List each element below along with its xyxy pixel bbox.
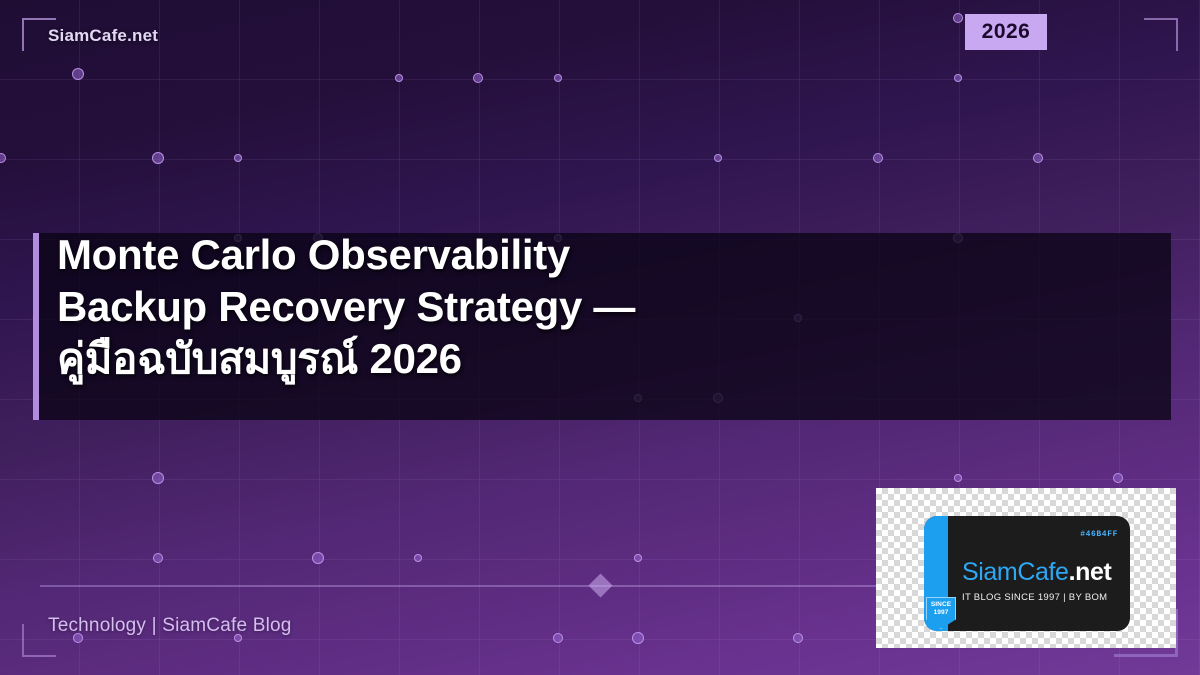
logo-wordmark-primary: SiamCafe xyxy=(962,558,1069,586)
decorative-dot xyxy=(0,153,6,163)
decorative-dot xyxy=(793,633,803,643)
year-badge-label: 2026 xyxy=(982,20,1031,44)
social-card-canvas: SiamCafe.net 2026 Monte Carlo Observabil… xyxy=(0,0,1200,675)
title-band: Monte Carlo Observability Backup Recover… xyxy=(33,233,1171,420)
decorative-dot xyxy=(473,73,483,83)
decorative-dot xyxy=(153,553,163,563)
decorative-dot xyxy=(714,154,722,162)
decorative-dot xyxy=(632,632,644,644)
decorative-dot xyxy=(234,154,242,162)
decorative-dot xyxy=(954,474,962,482)
decorative-dot xyxy=(414,554,422,562)
decorative-dot xyxy=(953,13,963,23)
decorative-dot xyxy=(1033,153,1043,163)
page-title: Monte Carlo Observability Backup Recover… xyxy=(57,229,1157,385)
footer-category: Technology | SiamCafe Blog xyxy=(48,615,292,637)
year-badge: 2026 xyxy=(965,14,1047,50)
logo-plate: SINCE 1997 #46B4FF SiamCafe.net IT BLOG … xyxy=(924,516,1130,631)
decorative-dot xyxy=(72,68,84,80)
logo-wordmark-suffix: .net xyxy=(1069,558,1112,586)
title-accent-bar xyxy=(33,233,39,420)
shield-line-1: SINCE xyxy=(931,601,951,609)
decorative-dot xyxy=(873,153,883,163)
brand-wordmark: SiamCafe.net xyxy=(48,26,158,46)
decorative-dot xyxy=(1113,473,1123,483)
decorative-dot xyxy=(395,74,403,82)
logo-hex-label: #46B4FF xyxy=(1080,530,1118,539)
logo-tagline: IT BLOG SINCE 1997 | BY BOM xyxy=(962,592,1107,603)
decorative-dot xyxy=(554,74,562,82)
corner-bracket-top-right-icon xyxy=(1144,18,1178,51)
decorative-dot xyxy=(634,554,642,562)
decorative-dot xyxy=(312,552,324,564)
logo-card: SINCE 1997 #46B4FF SiamCafe.net IT BLOG … xyxy=(876,488,1176,648)
decorative-dot xyxy=(954,74,962,82)
decorative-dot xyxy=(553,633,563,643)
divider-diamond-icon xyxy=(588,573,612,597)
logo-wordmark: SiamCafe.net xyxy=(962,558,1111,587)
decorative-dot xyxy=(152,152,164,164)
shield-line-2: 1997 xyxy=(934,609,949,617)
decorative-dot xyxy=(152,472,164,484)
